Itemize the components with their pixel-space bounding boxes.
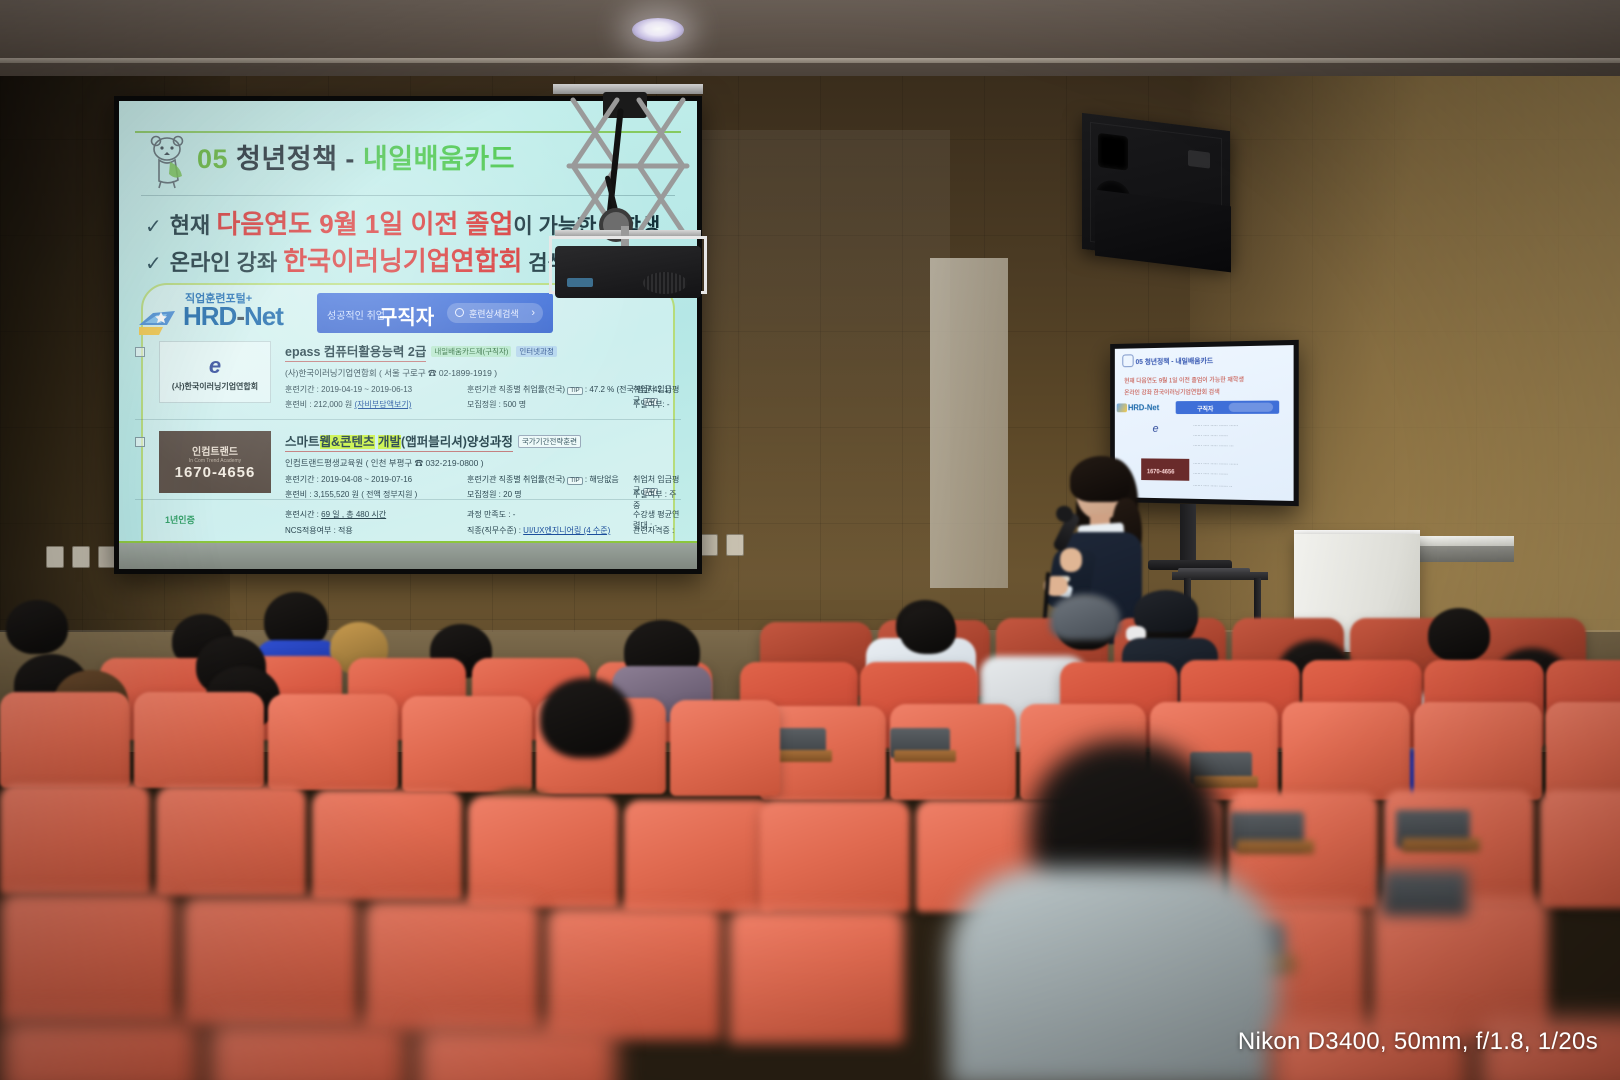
period-cell: 훈련기간 : 2019-04-08 ~ 2019-07-16: [285, 474, 412, 485]
lectern-shelf-underside: [1420, 546, 1514, 562]
seat[interactable]: [416, 1024, 616, 1080]
employment-rate-cell: 훈련기관 직종별 취업률(전국) TIP : 해당없음: [467, 474, 619, 485]
jobseeker-banner-title: 구직자: [379, 301, 434, 330]
seat[interactable]: [0, 892, 176, 1022]
seat[interactable]: [670, 700, 780, 796]
monitor-result-text: ······ ···· ····· ······: [1193, 471, 1287, 477]
provider-org-line: 인컴트랜드평생교육원 ( 인천 부평구 ☎ 032-219-0800 ): [285, 457, 681, 469]
seat[interactable]: [1372, 896, 1548, 1038]
ceiling-seam: [0, 58, 1620, 63]
row-separator: [135, 419, 681, 420]
seat[interactable]: [1540, 790, 1620, 908]
seat[interactable]: [0, 692, 130, 788]
job-type-cell: 직종(직무수준) : UI/UX엔지니어링 (4 수준): [467, 525, 610, 536]
projector-body: [555, 246, 701, 298]
seat[interactable]: [0, 1018, 200, 1080]
tiger-mascot-icon: [1122, 354, 1133, 367]
wall-outlet: [46, 546, 64, 568]
quota-cell: 모집정원 : 500 명: [467, 399, 526, 410]
provider-logo: e (사)한국이러닝기업연합회: [159, 341, 271, 403]
check-icon: ✓: [145, 216, 162, 238]
hrd-dash: -: [236, 301, 244, 331]
monitor-result-text: ······ ···· ····· ······ ······: [1193, 461, 1287, 467]
satisfaction-cell: 과정 만족도 : -: [467, 509, 515, 520]
seat[interactable]: [1414, 702, 1542, 800]
presenter-hand-upper: [1060, 548, 1082, 572]
monitor-line-1: 현재 다음연도 9월 1일 이전 졸업이 가능한 재학생: [1124, 374, 1244, 384]
course-title[interactable]: 스마트웹&콘텐츠 개발(앱퍼블리셔)양성과정: [285, 431, 513, 452]
slide-title-main: 청년정책 -: [228, 144, 363, 174]
slide-bullet-2: ✓온라인 강좌 한국이러닝기업연합회 검색: [145, 241, 567, 278]
year-badge: 1년인증: [165, 513, 195, 526]
search-icon: [455, 308, 464, 317]
hrd-logo-text: HRD-Net: [183, 301, 283, 332]
hours-cell: 훈련시간 : 69 일 , 총 480 시간: [285, 509, 386, 520]
monitor-search-pill: [1229, 403, 1273, 412]
monitor-line-2: 온라인 강좌 한국이러닝기업연합회 검색: [1124, 387, 1219, 397]
hrd-net-word: Net: [244, 301, 283, 331]
monitor-hrd-logo: HRD-Net: [1128, 403, 1159, 412]
provider-logo-caption: (사)한국이러닝기업연합회: [172, 381, 258, 392]
seat[interactable]: [760, 800, 910, 912]
hrd-net-logo-icon: [1117, 403, 1127, 412]
slide-title: 05 청년정책 - 내일배움카드: [197, 137, 515, 176]
seat[interactable]: [0, 784, 150, 894]
camera-watermark: Nikon D3400, 50mm, f/1.8, 1/20s: [1238, 1028, 1598, 1056]
audience-head: [6, 600, 68, 654]
monitor-slide-title: 05 청년정책 - 내일배움카드: [1136, 356, 1214, 367]
ncs-cell: NCS적용여부 : 적용: [285, 525, 353, 536]
seat[interactable]: [624, 800, 774, 912]
provider-logo-tel: 1670-4656: [175, 464, 256, 481]
bullet-2-lead: 온라인 강좌: [170, 250, 283, 275]
monitor-provider-tel: 1670-4656: [1147, 469, 1175, 475]
monitor-result-text: ······ ···· ····· ······ ······: [1193, 423, 1287, 428]
seat[interactable]: [1546, 702, 1620, 800]
projector-badge: [567, 278, 593, 287]
monitor-provider-mark: e: [1153, 423, 1159, 435]
audience-head: [900, 606, 956, 654]
wall-outlet: [726, 534, 744, 556]
row-checkbox[interactable]: [135, 347, 145, 357]
seat[interactable]: [268, 694, 398, 790]
seat[interactable]: [208, 1020, 408, 1080]
period-cell: 훈련기간 : 2019-04-19 ~ 2019-06-13: [285, 384, 412, 395]
foreground-audience-torso: [948, 868, 1278, 1080]
slide-title-highlight: 내일배움카드: [363, 144, 515, 174]
monitor-jobseeker-banner: 구직자: [1176, 401, 1280, 415]
row-separator: [135, 499, 681, 500]
seat-armrest: [1382, 870, 1468, 916]
monitor-banner-title: 구직자: [1197, 404, 1213, 413]
slide-title-number: 05: [197, 144, 228, 174]
monitor-result-text: ······ ···· ····· ······ ···: [1193, 443, 1287, 449]
seat[interactable]: [134, 692, 264, 788]
seat[interactable]: [312, 790, 462, 900]
seat[interactable]: [728, 908, 904, 1044]
seat-armrest-wood: [1236, 840, 1314, 854]
jobseeker-banner-small: 성공적인 취업: [327, 307, 385, 322]
provider-logo: 인컴트랜드 In Com Trend Academy 1670-4656: [159, 431, 271, 493]
seat[interactable]: [468, 796, 618, 908]
training-search-label: 훈련상세검색: [469, 307, 519, 320]
weekend-cell: 주말여부: -: [633, 399, 670, 410]
seat[interactable]: [182, 896, 358, 1026]
bullet-2-emphasis: 한국이러닝기업연합회: [283, 246, 522, 276]
beanie-hat-icon: [1050, 594, 1120, 640]
seat[interactable]: [402, 696, 532, 792]
seat[interactable]: [156, 786, 306, 896]
bullet-1-lead: 현재: [170, 213, 217, 238]
monitor-result-text: ······ ···· ····· ······ ··: [1193, 483, 1287, 490]
monitor-result-text: ······ ···· ····· ······: [1193, 433, 1287, 438]
seat-armrest-wood: [894, 750, 956, 762]
lectern-shelf: [1418, 536, 1514, 546]
monitor-stand: [1180, 504, 1196, 564]
course-tag-national: 국가기간전략훈련: [518, 435, 581, 448]
seat-armrest-wood: [1402, 838, 1480, 852]
cert-cell: 관련자격증 :: [633, 525, 674, 536]
projector-lift-rig: [545, 84, 711, 299]
wall-door: [930, 258, 1008, 588]
slide-bottom-band: [119, 543, 697, 569]
seat[interactable]: [546, 906, 722, 1040]
cost-cell: 훈련비 : 212,000 원 (자비부담액보기): [285, 399, 411, 410]
check-icon: ✓: [145, 253, 162, 275]
course-title[interactable]: epass 컴퓨터활용능력 2급: [285, 341, 426, 362]
lecture-hall-photo: 05 청년정책 - 내일배움카드 ✓현재 다음연도 9월 1일 이전 졸업이 가…: [0, 0, 1620, 1080]
bullet-1-emphasis: 다음연도 9월 1일 이전 졸업: [216, 209, 513, 239]
provider-org-line: (사)한국이러닝기업연합회 ( 서울 구로구 ☎ 02-1899-1919 ): [285, 367, 681, 379]
audience-seating: [0, 600, 1620, 1080]
ceiling: [0, 0, 1620, 78]
course-tag-online: 인터넷과정: [516, 346, 557, 357]
chevron-right-icon: ›: [531, 307, 535, 319]
audience-head: [540, 678, 632, 758]
hrd-word: HRD: [183, 301, 236, 331]
seat[interactable]: [364, 900, 540, 1032]
seat[interactable]: [1282, 702, 1410, 800]
course-tag-card: 내일배움카드제(구직자): [431, 346, 511, 357]
wall-outlet: [72, 546, 90, 568]
tiger-mascot-icon: [143, 133, 195, 189]
hrd-net-logo-icon: [137, 305, 179, 337]
presenter-hair: [1070, 456, 1130, 502]
tip-chip[interactable]: TIP: [567, 477, 582, 485]
jobseeker-banner[interactable]: 성공적인 취업 구직자 훈련상세검색 ›: [317, 293, 553, 333]
audience-head: [1428, 608, 1490, 662]
tip-chip[interactable]: TIP: [567, 387, 582, 395]
provider-logo-brand: 인컴트랜드: [192, 443, 238, 458]
wall-outlet: [700, 534, 718, 556]
provider-logo-mark: e: [209, 353, 221, 379]
wall-panel: [700, 130, 950, 600]
training-search-button[interactable]: 훈련상세검색 ›: [447, 303, 543, 323]
row-checkbox[interactable]: [135, 437, 145, 447]
beanie-hat-icon: [1134, 590, 1198, 632]
ceiling-downlight-icon: [632, 18, 684, 42]
projector-vent: [643, 272, 687, 294]
